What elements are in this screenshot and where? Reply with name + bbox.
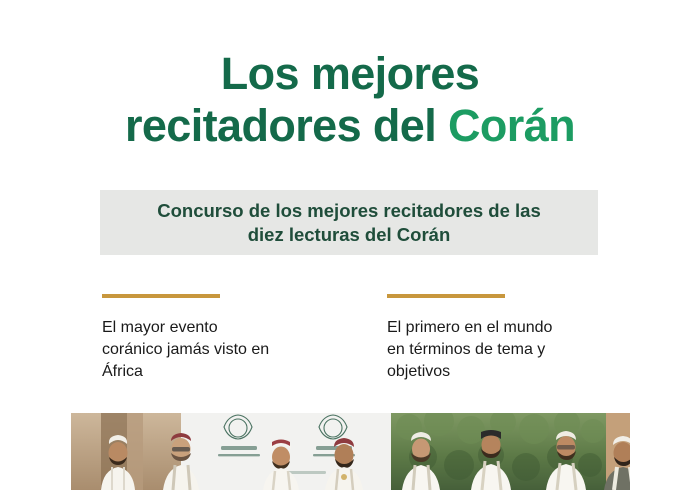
poster-canvas: Los mejores recitadores del Corán Concur… <box>0 0 700 490</box>
feature-right-line-1: El primero en el mundo <box>387 317 598 339</box>
subtitle-line-2: diez lecturas del Corán <box>157 223 541 247</box>
headline-line-2: recitadores del Corán <box>0 100 700 152</box>
subtitle-line-1: Concurso de los mejores recitadores de l… <box>157 199 541 223</box>
gold-rule-left <box>102 294 220 298</box>
headline-line-1: Los mejores <box>0 48 700 100</box>
feature-left-line-3: África <box>102 361 313 383</box>
gold-rule-right <box>387 294 505 298</box>
feature-column-left: El mayor evento coránico jamás visto en … <box>102 294 313 383</box>
subtitle-band: Concurso de los mejores recitadores de l… <box>100 190 598 255</box>
subtitle-text: Concurso de los mejores recitadores de l… <box>143 199 555 246</box>
feature-right-line-3: objetivos <box>387 361 598 383</box>
feature-text-left: El mayor evento coránico jamás visto en … <box>102 317 313 383</box>
feature-column-right: El primero en el mundo en términos de te… <box>387 294 598 383</box>
page-title: Los mejores recitadores del Corán <box>0 48 700 152</box>
feature-right-line-2: en términos de tema y <box>387 339 598 361</box>
feature-left-line-2: coránico jamás visto en <box>102 339 313 361</box>
feature-columns: El mayor evento coránico jamás visto en … <box>102 294 598 383</box>
group-photo-illustration <box>71 413 630 490</box>
headline-line-2-part-1: recitadores del <box>125 100 448 151</box>
group-photo <box>71 413 630 490</box>
feature-left-line-1: El mayor evento <box>102 317 313 339</box>
headline-line-2-part-2: Corán <box>448 100 575 151</box>
feature-text-right: El primero en el mundo en términos de te… <box>387 317 598 383</box>
